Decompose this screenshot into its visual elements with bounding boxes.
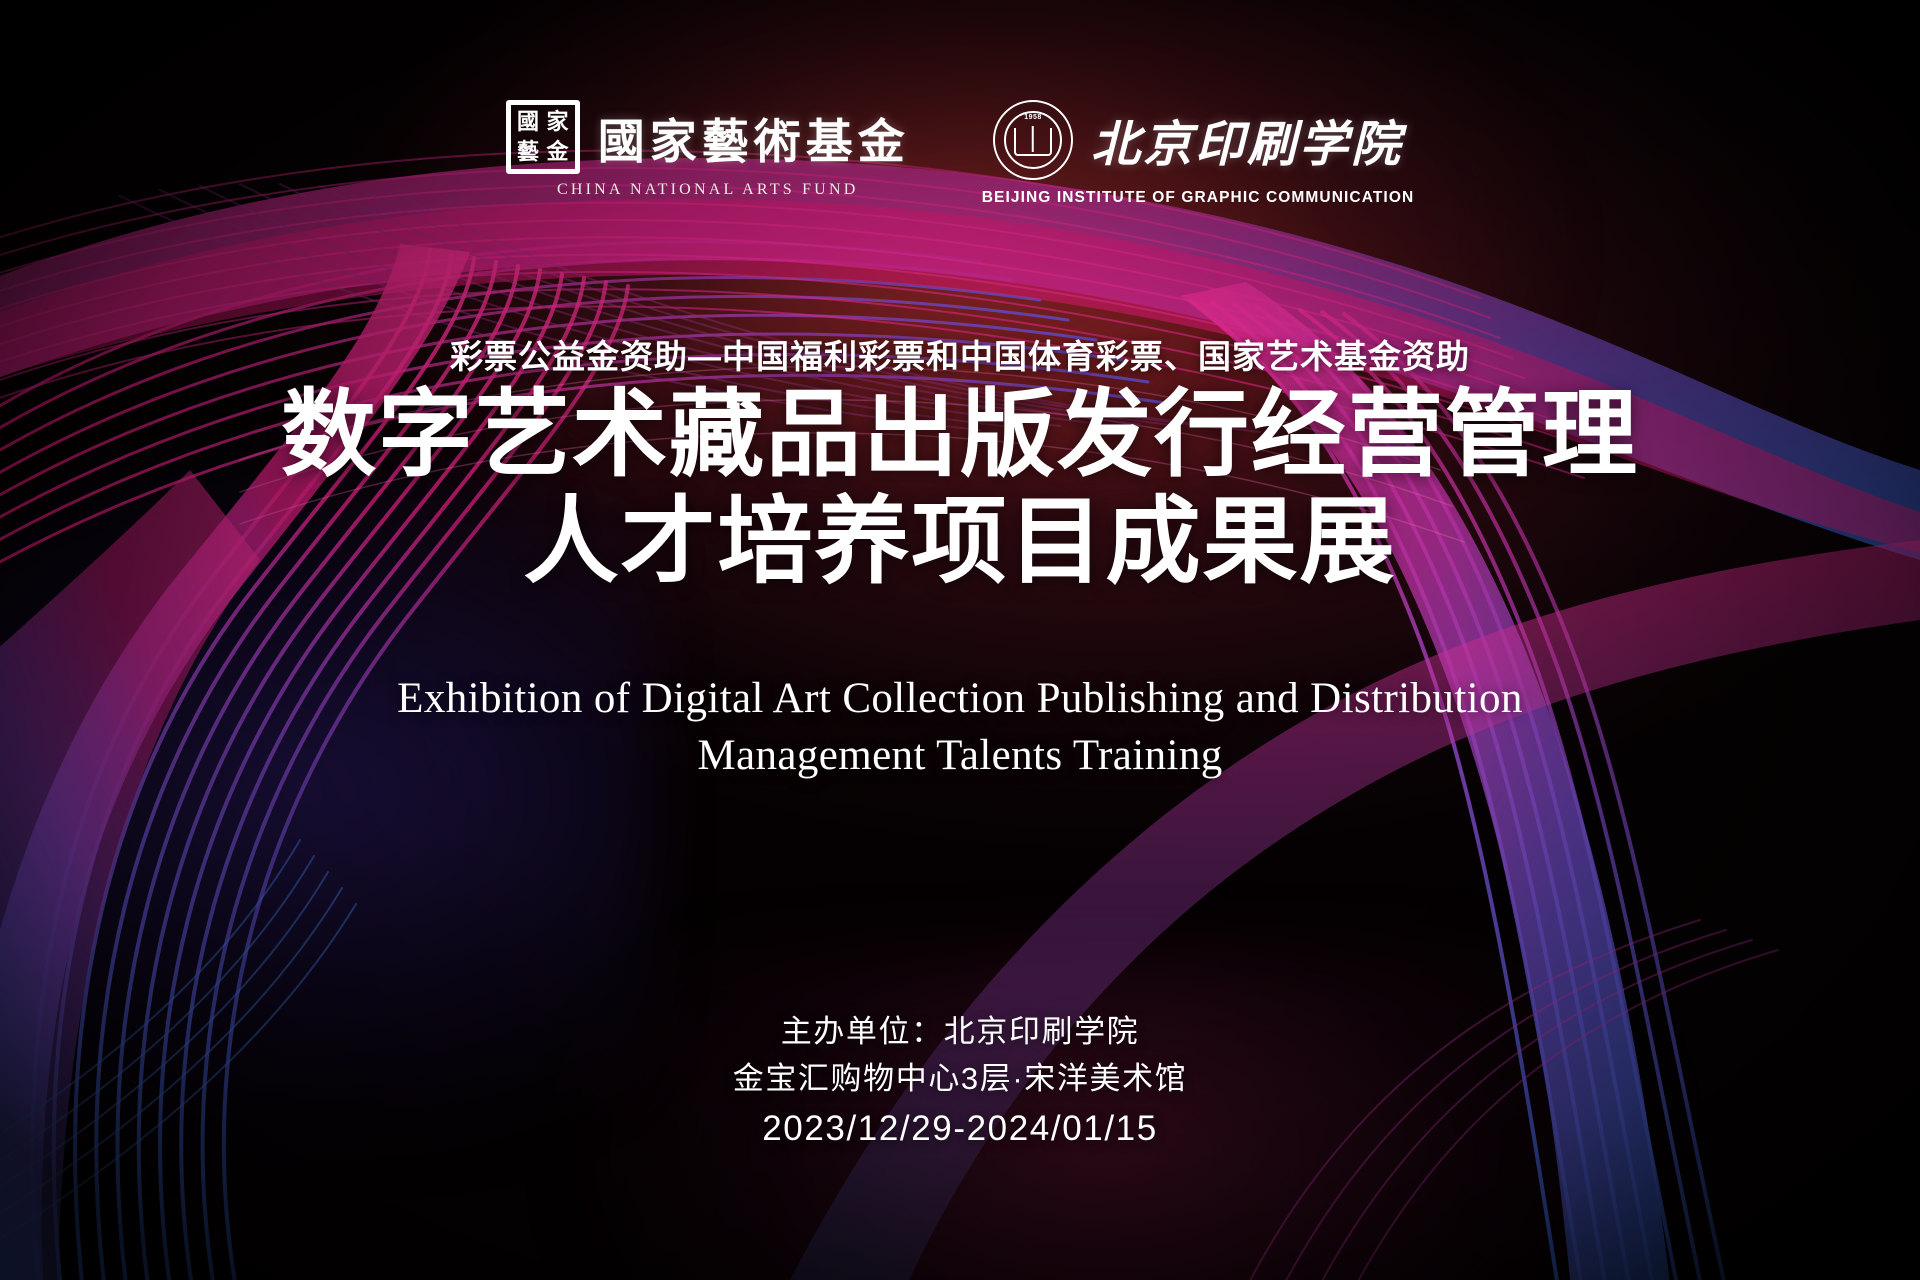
sponsor-logo-bigc: 1958 北京印刷学院 BEIJING INSTITUTE OF GRAPHIC… bbox=[982, 100, 1415, 207]
sponsor-name-en-arts-fund: CHINA NATIONAL ARTS FUND bbox=[557, 181, 858, 199]
sponsor-logo-national-arts-fund: 國 家 藝 金 國家藝術基金 CHINA NATIONAL ARTS FUND bbox=[506, 100, 910, 199]
seal-char-2: 家 bbox=[543, 108, 572, 137]
main-title-cn: 数字艺术藏品出版发行经营管理 人才培养项目成果展 bbox=[0, 382, 1920, 597]
main-title-en-line2: Management Talents Training bbox=[0, 727, 1920, 784]
funding-statement: 彩票公益金资助—中国福利彩票和中国体育彩票、国家艺术基金资助 bbox=[0, 330, 1920, 378]
organizer-line: 主办单位：北京印刷学院 bbox=[0, 1008, 1920, 1055]
sponsor-name-cn-bigc: 北京印刷学院 bbox=[1091, 105, 1403, 176]
sponsor-name-cn-arts-fund: 國家藝術基金 bbox=[598, 103, 910, 172]
event-info-block: 主办单位：北京印刷学院 金宝汇购物中心3层·宋洋美术馆 2023/12/29-2… bbox=[0, 1008, 1920, 1155]
poster-content: 國 家 藝 金 國家藝術基金 CHINA NATIONAL ARTS FUND … bbox=[0, 0, 1920, 1280]
sponsor-logo-bar: 國 家 藝 金 國家藝術基金 CHINA NATIONAL ARTS FUND … bbox=[0, 100, 1920, 207]
main-title-en: Exhibition of Digital Art Collection Pub… bbox=[0, 670, 1920, 784]
seal-char-3: 藝 bbox=[514, 138, 543, 167]
venue-line: 金宝汇购物中心3层·宋洋美术馆 bbox=[0, 1055, 1920, 1102]
sponsor-name-en-bigc: BEIJING INSTITUTE OF GRAPHIC COMMUNICATI… bbox=[982, 189, 1415, 207]
exhibition-poster: 國 家 藝 金 國家藝術基金 CHINA NATIONAL ARTS FUND … bbox=[0, 0, 1920, 1280]
main-title-en-line1: Exhibition of Digital Art Collection Pub… bbox=[0, 670, 1920, 727]
emblem-book-icon bbox=[1014, 128, 1052, 156]
date-range-line: 2023/12/29-2024/01/15 bbox=[0, 1102, 1920, 1155]
bigc-emblem-icon: 1958 bbox=[993, 100, 1073, 180]
seal-char-4: 金 bbox=[543, 138, 572, 167]
main-title-cn-line1: 数字艺术藏品出版发行经营管理 bbox=[0, 382, 1920, 489]
national-arts-fund-seal-icon: 國 家 藝 金 bbox=[506, 100, 580, 174]
main-title-cn-line2: 人才培养项目成果展 bbox=[0, 489, 1920, 596]
seal-char-1: 國 bbox=[514, 108, 543, 137]
emblem-year: 1958 bbox=[995, 114, 1071, 121]
